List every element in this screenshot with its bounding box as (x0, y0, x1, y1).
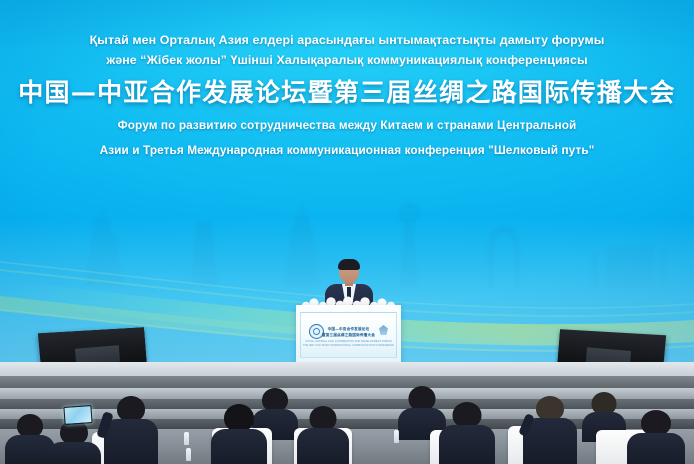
title-russian-line1: Форум по развитию сотрудничества между К… (0, 116, 694, 135)
delegate-front-7 (628, 410, 684, 464)
title-russian-line2: Азии и Третья Международная коммуникацио… (0, 141, 694, 160)
lectern-front-panel: 中国—中亚合作发展论坛 暨第三届丝绸之路国际传播大会 CHINA–CENTRAL… (300, 312, 397, 358)
delegate-front-5 (440, 402, 494, 464)
water-bottle (184, 432, 189, 445)
conference-photo: Қытай мен Орталық Азия елдері арасындағы… (0, 0, 694, 464)
smartphone-screen (63, 405, 92, 425)
delegate-front-4 (298, 406, 348, 464)
title-kazakh-line2: және “Жібек жолы” Үшінші Халықаралық ком… (0, 50, 694, 70)
delegate-head (224, 404, 254, 432)
delegate-body (47, 442, 101, 464)
title-chinese: 中国—中亚合作发展论坛暨第三届丝绸之路国际传播大会 (0, 76, 694, 110)
water-bottle (394, 430, 399, 443)
delegate-front-2 (48, 420, 100, 464)
lectern-title-line2: 暨第三届丝绸之路国际传播大会 (301, 333, 396, 338)
delegate-body (297, 428, 349, 464)
delegate-body (104, 419, 158, 464)
delegate-body (627, 433, 685, 464)
delegate-front-3 (212, 404, 266, 464)
water-bottle (186, 448, 191, 461)
audience-area (0, 370, 694, 464)
lectern-subtitle-line2: THE 3RD SILK ROAD INTERNATIONAL COMMUNIC… (301, 344, 396, 347)
speaker-hair (338, 259, 360, 270)
delegate-with-phone (104, 396, 158, 464)
screen-title-block: Қытай мен Орталық Азия елдері арасындағы… (0, 30, 694, 160)
delegate-body (211, 429, 267, 464)
lectern: 中国—中亚合作发展论坛 暨第三届丝绸之路国际传播大会 CHINA–CENTRAL… (296, 305, 401, 363)
title-kazakh-line1: Қытай мен Орталық Азия елдері арасындағы… (0, 30, 694, 50)
delegate-front-6 (524, 396, 576, 464)
lectern-title-line1: 中国—中亚合作发展论坛 (301, 327, 396, 332)
delegate-body (439, 425, 495, 464)
lectern-subtitle-line1: CHINA–CENTRAL ASIA COOPERATION AND DEVEL… (301, 340, 396, 343)
